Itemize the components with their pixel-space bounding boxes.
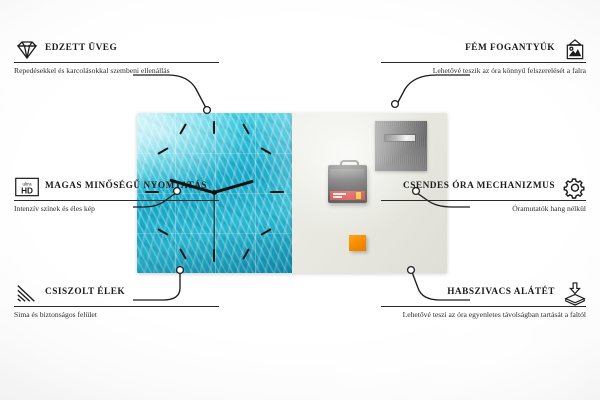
callout-polished-edges: CSISZOLT ÉLEK Sima és biztonságos felüle… bbox=[14, 282, 219, 320]
callout-high-quality-print: ultra HD MAGAS MINŐSÉGŰ NYOMTATÁS Intenz… bbox=[14, 176, 219, 214]
callout-title: CSISZOLT ÉLEK bbox=[45, 287, 125, 299]
callout-title: EDZETT ÜVEG bbox=[45, 43, 117, 55]
callout-title: MAGAS MINŐSÉGŰ NYOMTATÁS bbox=[45, 181, 207, 193]
callout-desc: Repedésekkel és karcolásokkal szembeni e… bbox=[14, 63, 219, 76]
callout-desc: Sima és biztonságos felület bbox=[14, 307, 219, 320]
callout-title: CSENDES ÓRA MECHANIZMUS bbox=[403, 181, 555, 193]
callout-desc: Lehetővé teszik az óra könnyű felszerelé… bbox=[381, 63, 586, 76]
clock-tick bbox=[270, 191, 284, 193]
ultra-hd-icon: ultra HD bbox=[14, 176, 38, 198]
mechanism-label bbox=[330, 191, 365, 200]
callout-desc: Óramutatók hang nélkül bbox=[381, 201, 586, 214]
callout-foam-pad: HABSZIVACS ALÁTÉT Lehetővé teszi az óra … bbox=[381, 282, 586, 320]
callout-desc: Intenzív színek és éles kép bbox=[14, 201, 219, 214]
callout-metal-handles: FÉM FOGANTYÚK Lehetővé teszik az óra kön… bbox=[381, 38, 586, 76]
foam-pad bbox=[349, 235, 366, 251]
callout-tempered-glass: EDZETT ÜVEG Repedésekkel és karcolásokka… bbox=[14, 38, 219, 76]
diamond-icon bbox=[14, 38, 38, 60]
picture-hanger-icon bbox=[562, 38, 586, 60]
clock-tick bbox=[213, 121, 215, 134]
callout-title: HABSZIVACS ALÁTÉT bbox=[447, 287, 555, 299]
callout-title: FÉM FOGANTYÚK bbox=[465, 43, 555, 55]
polished-edges-icon bbox=[14, 282, 38, 304]
leader-endpoint bbox=[392, 101, 399, 108]
metal-hanger-plate bbox=[375, 121, 427, 171]
foam-pad-icon bbox=[562, 282, 586, 304]
svg-text:HD: HD bbox=[21, 187, 33, 196]
infographic-canvas: EDZETT ÜVEG Repedésekkel és karcolásokka… bbox=[0, 0, 600, 400]
callout-silent-mechanism: CSENDES ÓRA MECHANIZMUS Óramutatók hang … bbox=[381, 176, 586, 214]
gear-icon bbox=[562, 176, 586, 198]
clock-tick bbox=[213, 249, 215, 262]
callout-desc: Lehetővé teszi az óra egyenletes távolsá… bbox=[381, 307, 586, 320]
clock-mechanism bbox=[328, 165, 367, 203]
